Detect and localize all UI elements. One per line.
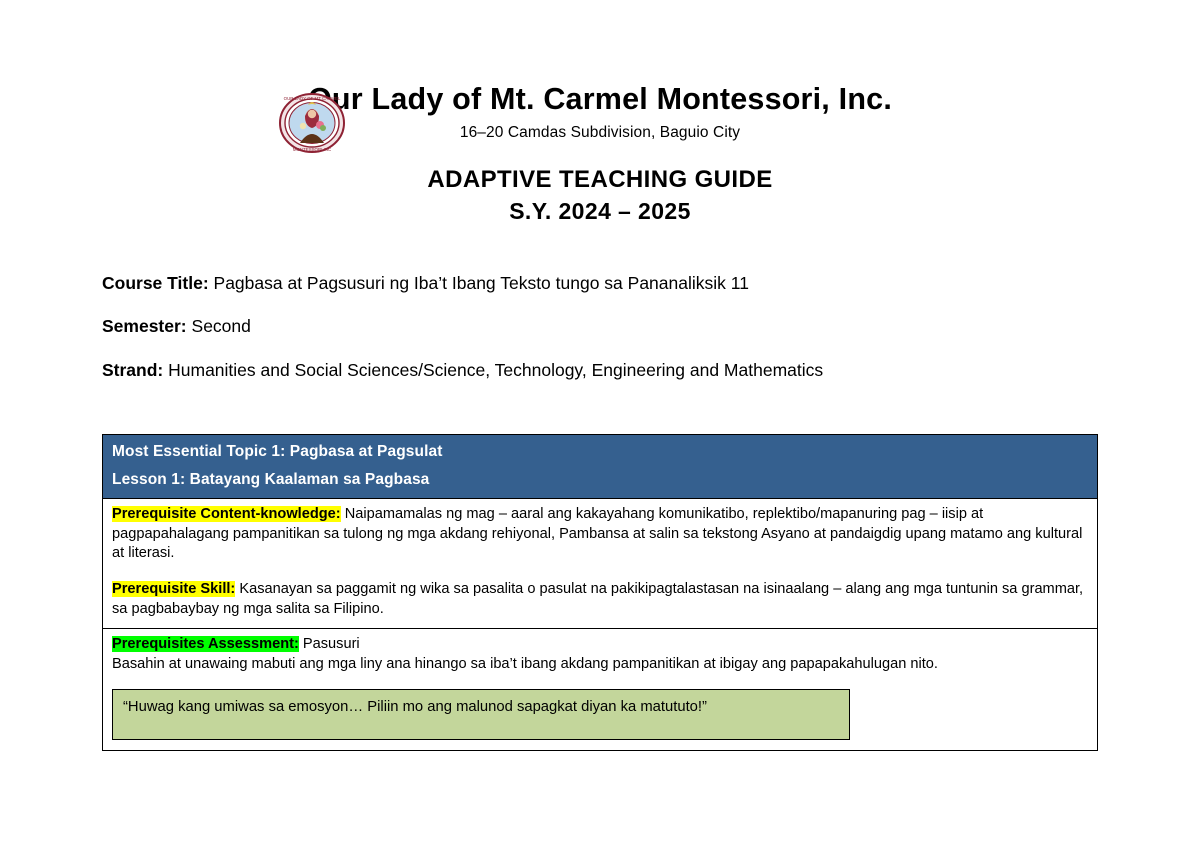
- school-name: Our Lady of Mt. Carmel Montessori, Inc.: [308, 84, 892, 115]
- letterhead: OUR LADY OF MT CARMEL MONTESSORI INC Our…: [0, 0, 1200, 225]
- prerequisite-skill-text: Kasanayan sa paggamit ng wika sa pasalit…: [112, 581, 1083, 617]
- prerequisites-assessment-heading: Prerequisites Assessment: Pasusuri: [112, 635, 1088, 655]
- motivational-quote-box: “Huwag kang umiwas sa emosyon… Piliin mo…: [112, 689, 850, 740]
- document-page: OUR LADY OF MT CARMEL MONTESSORI INC Our…: [0, 0, 1200, 849]
- meta-row-course-title: Course Title: Pagbasa at Pagsusuri ng Ib…: [102, 273, 1110, 295]
- strand-value: Humanities and Social Sciences/Science, …: [168, 360, 823, 380]
- prerequisite-content-knowledge-block: Prerequisite Content-knowledge: Naipamam…: [112, 505, 1088, 564]
- meta-row-strand: Strand: Humanities and Social Sciences/S…: [102, 360, 1110, 382]
- prerequisites-assessment-label: Prerequisites Assessment:: [112, 636, 299, 652]
- meta-row-semester: Semester: Second: [102, 316, 1110, 338]
- most-essential-topic: Most Essential Topic 1: Pagbasa at Pagsu…: [112, 443, 1088, 460]
- school-address: 16–20 Camdas Subdivision, Baguio City: [0, 124, 1200, 142]
- course-title-value: Pagbasa at Pagsusuri ng Iba’t Ibang Teks…: [214, 273, 749, 293]
- prerequisites-assessment-type: Pasusuri: [299, 636, 360, 652]
- semester-value: Second: [192, 316, 251, 336]
- table-header-bar: Most Essential Topic 1: Pagbasa at Pagsu…: [103, 435, 1097, 499]
- strand-label: Strand:: [102, 360, 163, 380]
- svg-text:MONTESSORI INC: MONTESSORI INC: [293, 147, 331, 152]
- course-meta: Course Title: Pagbasa at Pagsusuri ng Ib…: [0, 273, 1200, 383]
- document-title: ADAPTIVE TEACHING GUIDE: [0, 166, 1200, 194]
- prerequisites-assessment-instruction: Basahin at unawaing mabuti ang mga liny …: [112, 655, 1088, 675]
- adaptive-guide-table: Most Essential Topic 1: Pagbasa at Pagsu…: [102, 434, 1098, 751]
- semester-label: Semester:: [102, 316, 187, 336]
- prerequisite-skill-block: Prerequisite Skill: Kasanayan sa paggami…: [112, 580, 1088, 619]
- course-title-label: Course Title:: [102, 273, 209, 293]
- prerequisite-skill-label: Prerequisite Skill:: [112, 581, 235, 597]
- prerequisites-assessment-cell: Prerequisites Assessment: Pasusuri Basah…: [103, 629, 1097, 751]
- lesson-title: Lesson 1: Batayang Kaalaman sa Pagbasa: [112, 471, 1088, 488]
- prerequisite-content-knowledge-label: Prerequisite Content-knowledge:: [112, 506, 341, 522]
- prerequisites-cell: Prerequisite Content-knowledge: Naipamam…: [103, 499, 1097, 628]
- school-year: S.Y. 2024 – 2025: [0, 198, 1200, 225]
